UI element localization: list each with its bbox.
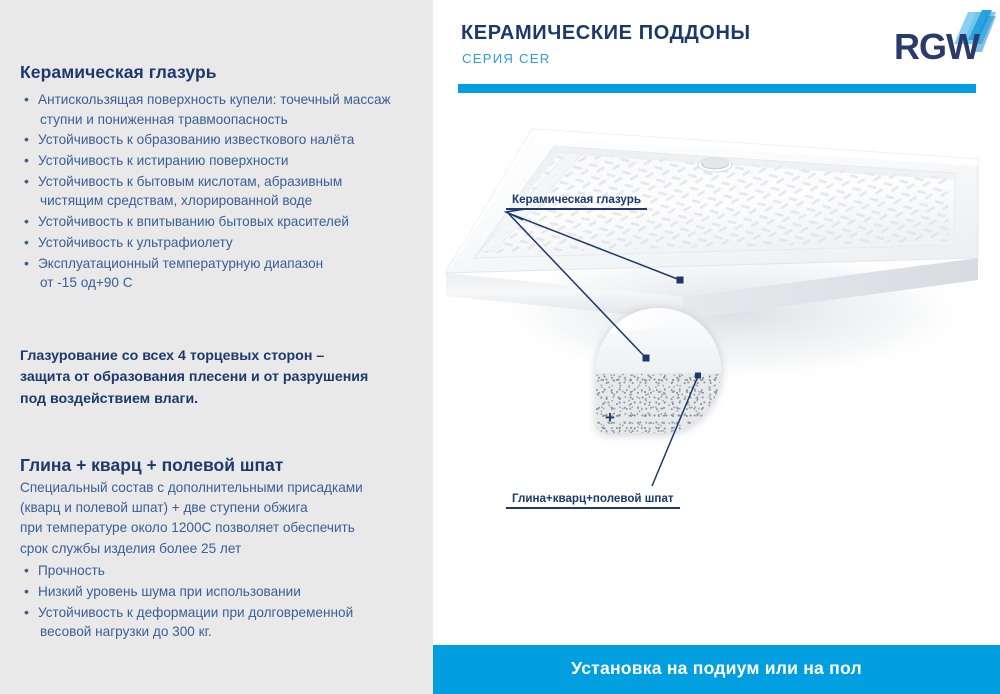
bullet-line-1: Устойчивость к деформации при долговреме…	[38, 605, 353, 620]
list-item: Прочность	[20, 561, 417, 581]
list-item: Устойчивость к ультрафиолету	[20, 233, 417, 253]
list-item: Устойчивость к деформации при долговреме…	[20, 603, 417, 642]
bullet-line-1: Устойчивость к образованию известкового …	[38, 132, 354, 147]
composition-benefits-list: Прочность Низкий уровень шума при исполь…	[20, 561, 417, 642]
bullet-line-1: Антискользящая поверхность купели: точеч…	[38, 92, 391, 107]
callout-clay-quartz-feldspar: Глина+кварц+полевой шпат	[506, 492, 680, 509]
logo-wordmark: RGW	[894, 26, 980, 67]
glaze-benefits-list: Антискользящая поверхность купели: точеч…	[20, 90, 417, 293]
header-accent-bar	[458, 84, 976, 93]
callout-label-text: Керамическая глазурь	[506, 193, 647, 208]
list-item: Устойчивость к образованию известкового …	[20, 130, 417, 150]
list-item: Устойчивость к бытовым кислотам, абразив…	[20, 172, 417, 211]
composition-line-3: при температуре около 1200С позволяет об…	[20, 518, 417, 538]
list-item: Низкий уровень шума при использовании	[20, 582, 417, 602]
list-item: Устойчивость к впитыванию бытовых красит…	[20, 212, 417, 232]
rgw-logo: RGW	[892, 6, 996, 68]
bullet-line-2: ступни и пониженная травмоопасность	[38, 110, 417, 130]
footer-text: Установка на подиум или на пол	[433, 658, 1000, 679]
magnifier-detail: +	[596, 308, 721, 433]
composition-line-1: Специальный состав с дополнительными при…	[20, 478, 417, 498]
section-glazing-all-sides: Глазурование со всех 4 торцевых сторон –…	[20, 346, 417, 411]
bullet-line-1: Устойчивость к бытовым кислотам, абразив…	[38, 174, 342, 189]
callout-label-text: Глина+кварц+полевой шпат	[506, 492, 680, 507]
callout-underline	[506, 208, 647, 210]
composition-line-4: срок службы изделия более 25 лет	[20, 539, 417, 559]
bullet-line-1: Эксплуатационный температурную диапазон	[38, 256, 323, 271]
callout-ceramic-glaze: Керамическая глазурь	[506, 193, 647, 210]
left-info-panel: Керамическая глазурь Антискользящая пове…	[0, 0, 433, 694]
bullet-line-1: Устойчивость к ультрафиолету	[38, 235, 233, 250]
bullet-line-2: весовой нагрузки до 300 кг.	[38, 622, 417, 642]
plus-icon: +	[605, 409, 615, 426]
rgw-logo-icon: RGW	[892, 6, 996, 68]
list-item: Устойчивость к истиранию поверхности	[20, 151, 417, 171]
bullet-line-1: Прочность	[38, 563, 105, 578]
bullet-line-1: Устойчивость к впитыванию бытовых красит…	[38, 214, 349, 229]
glazing-line-2: защита от образования плесени и от разру…	[20, 367, 417, 389]
bullet-line-1: Низкий уровень шума при использовании	[38, 584, 301, 599]
spacer	[20, 411, 417, 455]
footer-banner: Установка на подиум или на пол	[433, 645, 1000, 694]
list-item: Эксплуатационный температурную диапазон …	[20, 254, 417, 293]
list-item: Антискользящая поверхность купели: точеч…	[20, 90, 417, 129]
glazing-line-1: Глазурование со всех 4 торцевых сторон –	[20, 346, 417, 368]
poster-page: Керамическая глазурь Антискользящая пове…	[0, 0, 1000, 694]
page-subtitle: СЕРИЯ CER	[462, 51, 550, 66]
page-title: КЕРАМИЧЕСКИЕ ПОДДОНЫ	[461, 22, 751, 45]
glazing-line-3: под воздействием влаги.	[20, 389, 417, 411]
composition-line-2: (кварц и полевой шпат) + две ступени обж…	[20, 498, 417, 518]
section-heading-composition: Глина + кварц + полевой шпат	[20, 455, 417, 476]
product-diagram: + Керамическая глазурь Г	[433, 108, 1000, 645]
bullet-line-1: Устойчивость к истиранию поверхности	[38, 153, 289, 168]
spacer	[20, 294, 417, 346]
section-heading-glaze: Керамическая глазурь	[20, 62, 417, 84]
bullet-line-2: от -15 од+90 С	[38, 273, 417, 293]
bullet-line-2: чистящим средствам, хлорированной воде	[38, 191, 417, 211]
callout-underline	[506, 507, 680, 509]
magnifier-glaze-layer	[596, 308, 721, 373]
